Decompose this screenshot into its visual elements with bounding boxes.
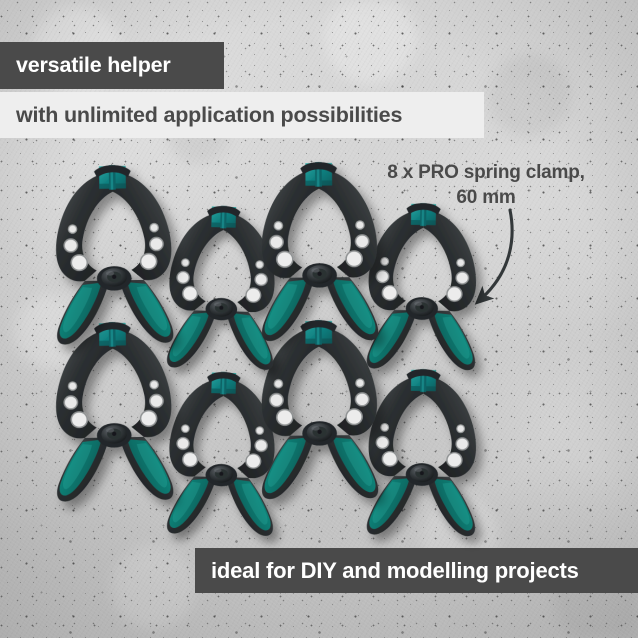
- headline-primary-text: versatile helper: [16, 53, 171, 78]
- footer-banner: ideal for DIY and modelling projects: [195, 548, 638, 593]
- headline-secondary-text: with unlimited application possibilities: [16, 103, 402, 128]
- spring-clamp: [36, 153, 192, 349]
- headline-banner-secondary: with unlimited application possibilities: [0, 92, 484, 138]
- product-image: 8 x PRO spring clamp, 60 mm versatile he…: [0, 0, 638, 638]
- callout-line-1: 8 x PRO spring clamp,: [387, 162, 584, 183]
- spring-clamp: [242, 150, 397, 345]
- headline-banner-primary: versatile helper: [0, 42, 224, 89]
- footer-banner-text: ideal for DIY and modelling projects: [211, 558, 579, 584]
